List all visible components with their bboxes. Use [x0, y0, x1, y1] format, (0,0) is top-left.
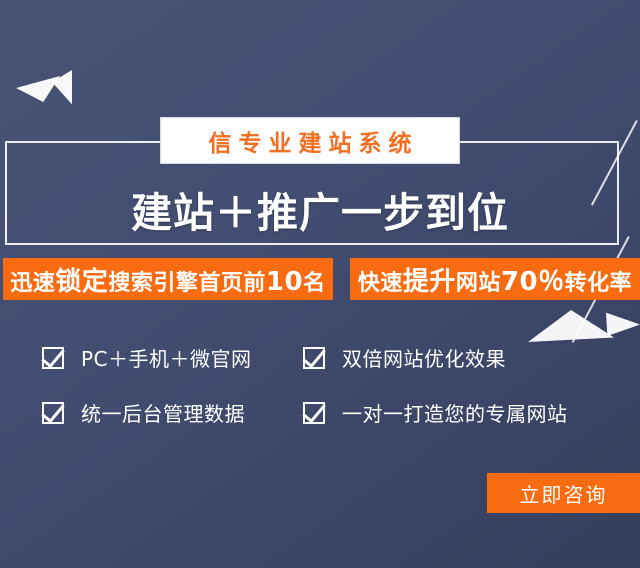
list-item-label: 统一后台管理数据: [81, 398, 245, 427]
checkbox-checked-icon: [303, 402, 325, 424]
list-item: 一对一打造您的专属网站: [295, 398, 640, 427]
consult-now-button-label: 立即咨询: [520, 479, 608, 508]
list-item-label: 一对一打造您的专属网站: [342, 398, 568, 427]
page-title: 建站＋推广一步到位: [117, 179, 523, 239]
conversion-rate-strip-text: 快速提升网站70％转化率: [358, 261, 632, 298]
feature-list: PC＋手机＋微官网 双倍网站优化效果 统一后台管理数据 一对一打造您的专属网站: [0, 330, 640, 440]
headline-row: 建站＋推广一步到位: [0, 178, 640, 240]
consult-now-button[interactable]: 立即咨询: [487, 473, 640, 513]
badge: 信专业建站系统: [160, 117, 460, 164]
feature-row: PC＋手机＋微官网 双倍网站优化效果: [0, 330, 640, 385]
search-ranking-strip-text: 迅速锁定搜索引擎首页前10名: [10, 261, 325, 298]
list-item: 统一后台管理数据: [0, 398, 295, 427]
list-item: 双倍网站优化效果: [295, 343, 640, 372]
paper-plane-icon: [16, 62, 76, 112]
promo-banner: 信专业建站系统 建站＋推广一步到位 迅速锁定搜索引擎首页前10名 快速提升网站7…: [0, 0, 640, 568]
checkbox-checked-icon: [42, 402, 64, 424]
checkbox-checked-icon: [303, 347, 325, 369]
list-item-label: 双倍网站优化效果: [342, 343, 506, 372]
list-item-label: PC＋手机＋微官网: [81, 343, 252, 372]
checkbox-checked-icon: [42, 347, 64, 369]
list-item: PC＋手机＋微官网: [0, 343, 295, 372]
feature-row: 统一后台管理数据 一对一打造您的专属网站: [0, 385, 640, 440]
conversion-rate-strip: 快速提升网站70％转化率: [350, 258, 640, 300]
search-ranking-strip: 迅速锁定搜索引擎首页前10名: [3, 258, 333, 300]
badge-text: 信专业建站系统: [202, 124, 419, 158]
